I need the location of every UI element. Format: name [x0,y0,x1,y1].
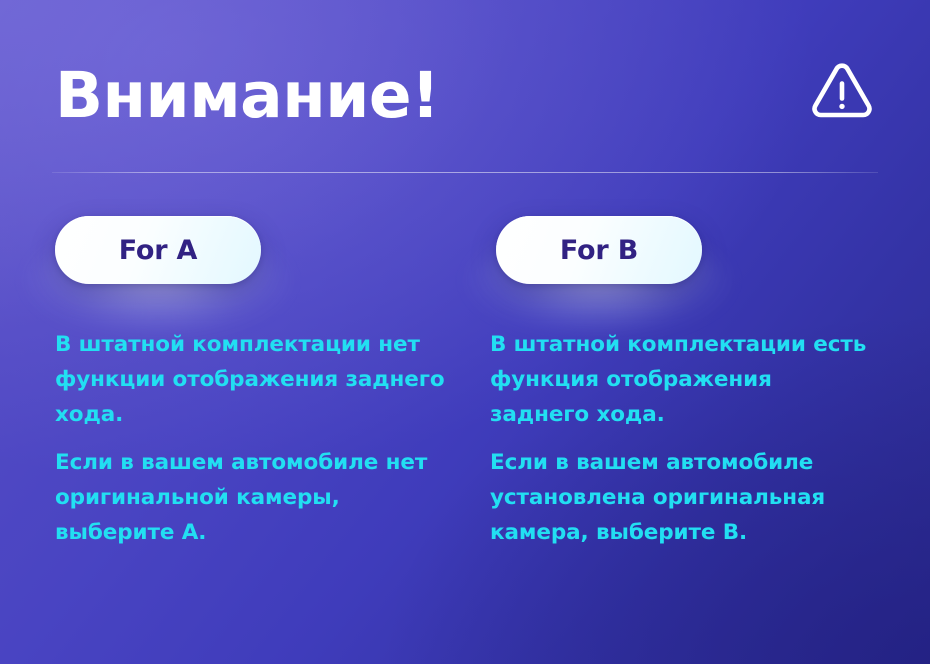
option-a-button[interactable]: For A [55,216,261,284]
option-a-paragraph-2: Если в вашем автомобиле нет оригинальной… [55,446,447,550]
option-b-button[interactable]: For B [496,216,702,284]
option-a-button-wrap: For A [55,216,261,284]
option-a-button-label: For A [119,237,198,264]
option-a-paragraph-1: В штатной комплектации нет функции отобр… [55,328,447,432]
option-column-a: For A В штатной комплектации нет функции… [55,216,485,551]
option-b-paragraph-2: Если в вашем автомобиле установлена ориг… [490,446,878,550]
option-b-button-label: For B [560,237,638,264]
slide-header: Внимание! [0,52,930,138]
option-b-button-wrap: For B [496,216,702,284]
option-column-b: For B В штатной комплектации есть функци… [490,216,920,551]
warning-slide: Внимание! For A В штатной комплектации н… [0,0,930,664]
options-columns: For A В штатной комплектации нет функции… [0,216,930,551]
page-title: Внимание! [55,64,439,127]
header-divider [52,172,878,173]
option-b-paragraph-1: В штатной комплектации есть функция отоб… [490,328,878,432]
warning-triangle-icon [806,59,878,131]
